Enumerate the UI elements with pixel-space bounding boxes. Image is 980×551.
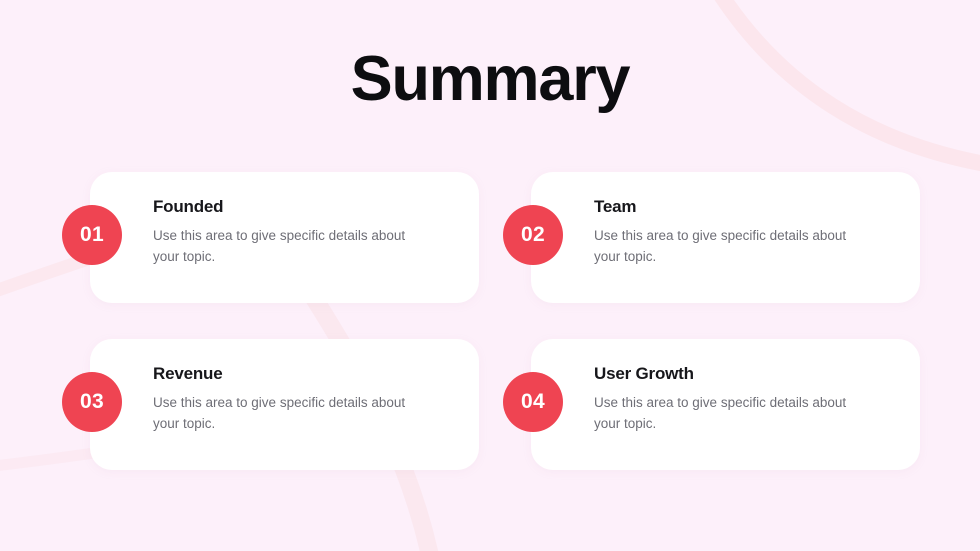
card-heading: Founded — [153, 198, 458, 217]
page-title: Summary — [0, 46, 980, 112]
card-number-badge: 02 — [503, 205, 563, 265]
summary-card-1[interactable]: 01 Founded Use this area to give specifi… — [90, 172, 479, 303]
card-description: Use this area to give specific details a… — [153, 226, 411, 268]
card-heading: Revenue — [153, 365, 458, 384]
summary-card-4[interactable]: 04 User Growth Use this area to give spe… — [531, 339, 920, 470]
slide-canvas: Summary 01 Founded Use this area to give… — [0, 0, 980, 551]
card-description: Use this area to give specific details a… — [153, 393, 411, 435]
card-heading: Team — [594, 198, 899, 217]
card-content: Team Use this area to give specific deta… — [594, 198, 899, 268]
card-number-badge: 04 — [503, 372, 563, 432]
card-number-badge: 01 — [62, 205, 122, 265]
summary-card-2[interactable]: 02 Team Use this area to give specific d… — [531, 172, 920, 303]
summary-card-3[interactable]: 03 Revenue Use this area to give specifi… — [90, 339, 479, 470]
summary-card-grid: 01 Founded Use this area to give specifi… — [90, 172, 920, 471]
card-content: Revenue Use this area to give specific d… — [153, 365, 458, 435]
card-content: Founded Use this area to give specific d… — [153, 198, 458, 268]
card-number-badge: 03 — [62, 372, 122, 432]
card-description: Use this area to give specific details a… — [594, 393, 852, 435]
card-description: Use this area to give specific details a… — [594, 226, 852, 268]
card-content: User Growth Use this area to give specif… — [594, 365, 899, 435]
card-heading: User Growth — [594, 365, 899, 384]
